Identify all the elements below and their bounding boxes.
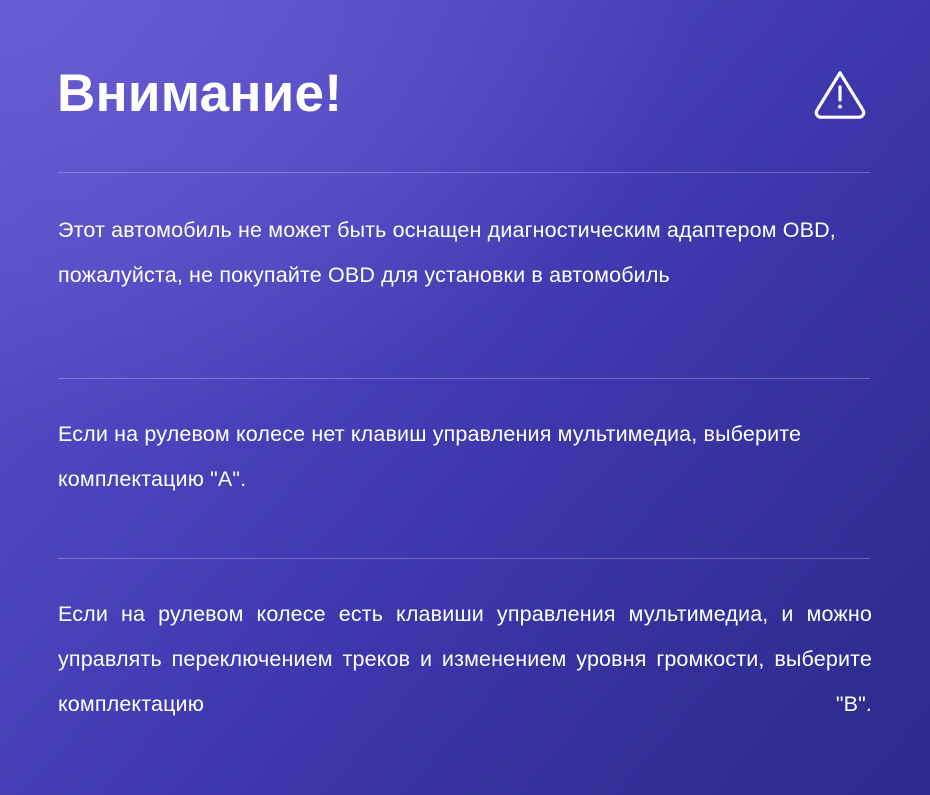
page-title: Внимание! xyxy=(57,67,342,120)
divider-bottom xyxy=(58,558,870,559)
notice-paragraph-trim-a: Если на рулевом колесе нет клавиш управл… xyxy=(58,412,872,502)
notice-paragraph-obd-warning: Этот автомобиль не может быть оснащен ди… xyxy=(58,208,872,298)
warning-triangle-icon xyxy=(812,65,870,121)
divider-middle xyxy=(58,378,870,379)
divider-top xyxy=(58,172,870,173)
notice-paragraph-trim-b: Если на рулевом колесе есть клавиши упра… xyxy=(58,592,872,772)
notice-header: Внимание! xyxy=(57,48,870,138)
warning-notice-panel: Внимание! Этот автомобиль не может быть … xyxy=(0,0,930,795)
